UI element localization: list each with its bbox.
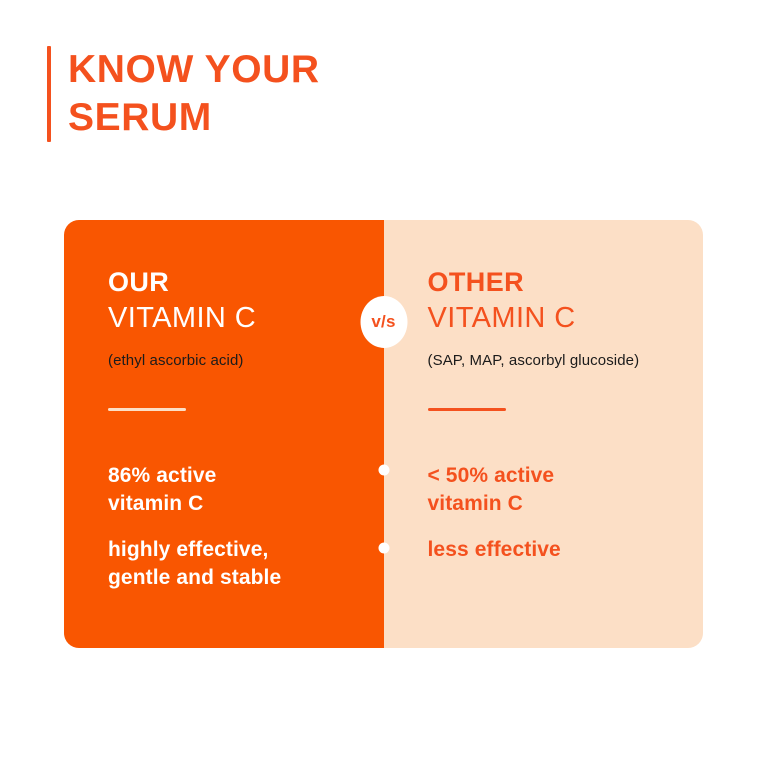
our-panel-kicker: OUR: [108, 266, 169, 298]
our-panel-feature-list: 86% active vitamin C highly effective, g…: [108, 462, 366, 592]
our-panel-title: VITAMIN C: [108, 300, 256, 336]
other-panel-subtitle: (SAP, MAP, ascorbyl glucoside): [428, 350, 640, 372]
list-item: highly effective, gentle and stable: [108, 536, 366, 592]
divider-dot-icon: [378, 465, 389, 476]
other-panel-kicker: OTHER: [428, 266, 525, 298]
panel-other-vitamin-c: OTHER VITAMIN C (SAP, MAP, ascorbyl gluc…: [384, 220, 704, 648]
list-item: less effective: [428, 536, 686, 564]
comparison-card: OUR VITAMIN C (ethyl ascorbic acid) 86% …: [64, 220, 703, 648]
our-panel-subtitle: (ethyl ascorbic acid): [108, 350, 243, 372]
other-panel-feature-list: < 50% active vitamin C less effective: [428, 462, 686, 564]
other-panel-divider-rule: [428, 408, 506, 411]
versus-badge: v/s: [360, 296, 407, 348]
list-item: < 50% active vitamin C: [428, 462, 686, 518]
page-title: Know Your Serum: [47, 46, 320, 142]
list-item: 86% active vitamin C: [108, 462, 366, 518]
title-accent-bar: [47, 46, 51, 142]
panel-our-vitamin-c: OUR VITAMIN C (ethyl ascorbic acid) 86% …: [64, 220, 384, 648]
poster-canvas: Know Your Serum OUR VITAMIN C (ethyl asc…: [0, 0, 767, 767]
divider-dot-icon: [378, 543, 389, 554]
page-title-text: Know Your Serum: [68, 46, 320, 142]
our-panel-divider-rule: [108, 408, 186, 411]
other-panel-title: VITAMIN C: [428, 300, 576, 336]
